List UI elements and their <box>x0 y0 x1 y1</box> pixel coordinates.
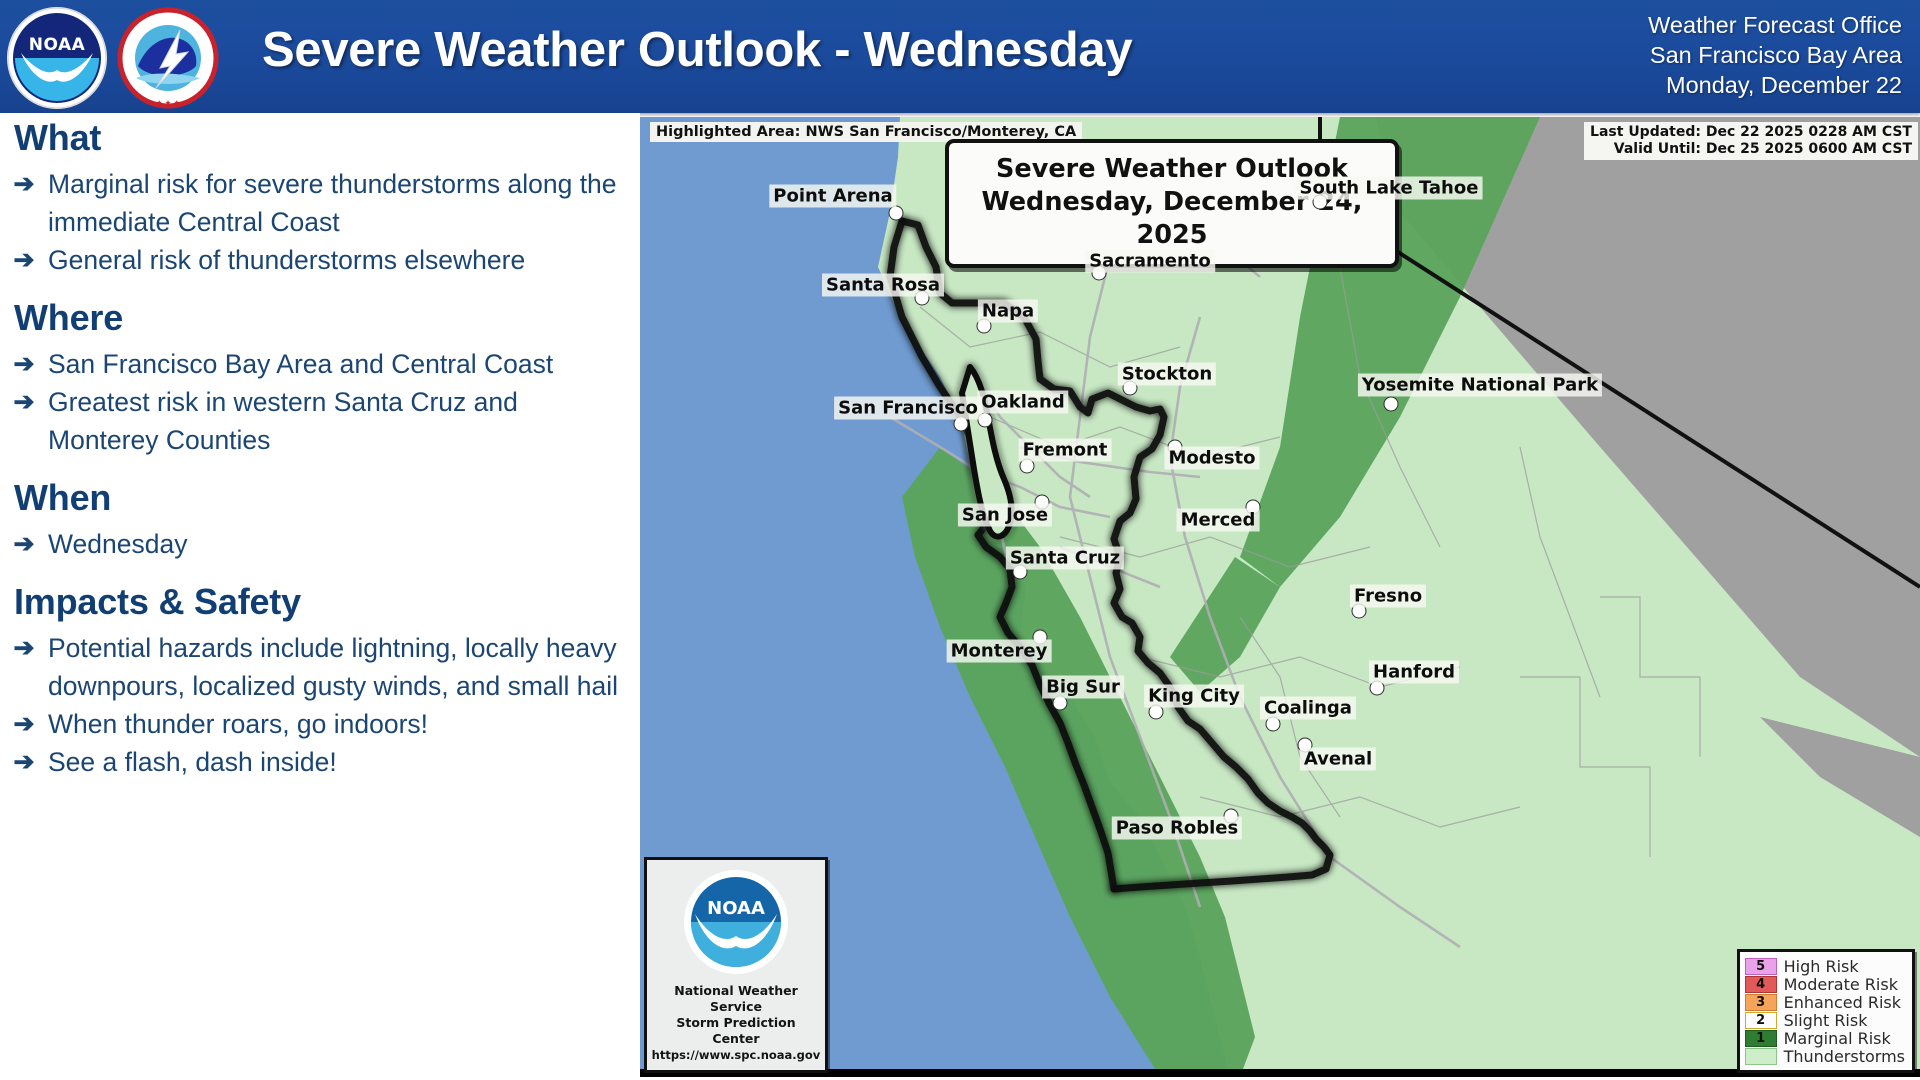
city-label: Avenal <box>1300 748 1376 771</box>
section-heading: Impacts & Safety <box>0 581 640 623</box>
city-label: South Lake Tahoe <box>1296 177 1483 200</box>
bullet-item: ➔Greatest risk in western Santa Cruz and… <box>0 383 640 459</box>
legend-label: High Risk <box>1784 957 1859 976</box>
city-label: Point Arena <box>769 185 896 208</box>
city-label: Fremont <box>1019 439 1112 462</box>
update-info-box: Last Updated: Dec 22 2025 0228 AM CST Va… <box>1584 122 1918 160</box>
spc-line2: Storm Prediction Center <box>651 1015 821 1047</box>
city-label: Stockton <box>1118 363 1216 386</box>
office-region: San Francisco Bay Area <box>1648 40 1902 70</box>
bullet-text: Wednesday <box>48 525 640 563</box>
noaa-wordmark: NOAA <box>29 35 86 55</box>
arrow-bullet-icon: ➔ <box>0 629 48 667</box>
legend-row: 4Moderate Risk <box>1745 975 1905 993</box>
bullet-item: ➔San Francisco Bay Area and Central Coas… <box>0 345 640 383</box>
city-label: King City <box>1144 685 1244 708</box>
bullet-text: Greatest risk in western Santa Cruz and … <box>48 383 640 459</box>
legend-label: Thunderstorms <box>1784 1047 1905 1066</box>
bullet-text: Potential hazards include lightning, loc… <box>48 629 640 705</box>
legend-row: 3Enhanced Risk <box>1745 993 1905 1011</box>
outlook-map[interactable]: Highlighted Area: NWS San Francisco/Mont… <box>640 117 1920 1077</box>
legend-swatch-2: 2 <box>1745 1012 1777 1029</box>
legend-swatch-thunderstorms <box>1745 1048 1777 1065</box>
bullet-list: ➔Wednesday <box>0 525 640 563</box>
arrow-bullet-icon: ➔ <box>0 345 48 383</box>
city-label: San Jose <box>958 504 1052 527</box>
city-label: Yosemite National Park <box>1358 374 1602 397</box>
valid-until-text: Valid Until: Dec 25 2025 0600 AM CST <box>1590 141 1912 158</box>
city-label: Santa Cruz <box>1006 547 1124 570</box>
spc-logo-box[interactable]: NOAA National Weather Service Storm Pred… <box>644 857 828 1073</box>
section-heading: When <box>0 477 640 519</box>
page-title: Severe Weather Outlook - Wednesday <box>262 22 1132 78</box>
bullet-item: ➔General risk of thunderstorms elsewhere <box>0 241 640 279</box>
city-label: Santa Rosa <box>822 274 944 297</box>
city-label: Coalinga <box>1260 697 1356 720</box>
page-header: NOAA ★ ★ ★ Severe Weather Outlook - Wedn… <box>0 0 1920 113</box>
city-label: Monterey <box>947 640 1052 663</box>
city-label: Hanford <box>1369 661 1459 684</box>
noaa-seal-wordmark: NOAA <box>707 898 765 919</box>
bullet-text: When thunder roars, go indoors! <box>48 705 640 743</box>
city-label: Modesto <box>1164 447 1259 470</box>
bullet-list: ➔Marginal risk for severe thunderstorms … <box>0 165 640 279</box>
spc-url[interactable]: https://www.spc.noaa.gov <box>651 1047 821 1064</box>
arrow-bullet-icon: ➔ <box>0 743 48 781</box>
legend-label: Enhanced Risk <box>1784 993 1901 1012</box>
office-info: Weather Forecast Office San Francisco Ba… <box>1648 10 1902 100</box>
section-where: Where➔San Francisco Bay Area and Central… <box>0 297 640 459</box>
legend-label: Marginal Risk <box>1784 1029 1891 1048</box>
outlook-summary-panel: What➔Marginal risk for severe thundersto… <box>0 113 640 1080</box>
section-heading: Where <box>0 297 640 339</box>
city-label: Merced <box>1177 509 1260 532</box>
bullet-text: See a flash, dash inside! <box>48 743 640 781</box>
legend-swatch-5: 5 <box>1745 958 1777 975</box>
bullet-text: Marginal risk for severe thunderstorms a… <box>48 165 640 241</box>
legend-swatch-3: 3 <box>1745 994 1777 1011</box>
city-label: Paso Robles <box>1112 817 1242 840</box>
city-label: San Francisco <box>834 397 982 420</box>
office-name: Weather Forecast Office <box>1648 10 1902 40</box>
arrow-bullet-icon: ➔ <box>0 165 48 203</box>
city-label: Napa <box>978 300 1038 323</box>
city-label: Sacramento <box>1085 250 1215 273</box>
city-dot-icon <box>889 206 904 221</box>
arrow-bullet-icon: ➔ <box>0 241 48 279</box>
legend-row: 5High Risk <box>1745 957 1905 975</box>
noaa-seal-icon: NOAA <box>661 866 811 978</box>
arrow-bullet-icon: ➔ <box>0 525 48 563</box>
legend-row: 2Slight Risk <box>1745 1011 1905 1029</box>
legend-label: Slight Risk <box>1784 1011 1868 1030</box>
bullet-list: ➔Potential hazards include lightning, lo… <box>0 629 640 781</box>
noaa-logo-icon: NOAA <box>5 6 109 110</box>
city-label: Fresno <box>1350 585 1426 608</box>
last-updated-text: Last Updated: Dec 22 2025 0228 AM CST <box>1590 124 1912 141</box>
arrow-bullet-icon: ➔ <box>0 705 48 743</box>
bullet-item: ➔Marginal risk for severe thunderstorms … <box>0 165 640 241</box>
bullet-item: ➔Wednesday <box>0 525 640 563</box>
city-label: Oakland <box>977 391 1068 414</box>
arrow-bullet-icon: ➔ <box>0 383 48 421</box>
nws-wordmark: ★ ★ ★ <box>156 99 180 107</box>
bullet-item: ➔Potential hazards include lightning, lo… <box>0 629 640 705</box>
risk-legend: 5High Risk4Moderate Risk3Enhanced Risk2S… <box>1737 949 1915 1073</box>
nws-logo-icon: ★ ★ ★ <box>116 6 220 110</box>
legend-row: 1Marginal Risk <box>1745 1029 1905 1047</box>
legend-swatch-4: 4 <box>1745 976 1777 993</box>
severe-weather-outlook-graphic: NOAA ★ ★ ★ Severe Weather Outlook - Wedn… <box>0 0 1920 1080</box>
issue-date: Monday, December 22 <box>1648 70 1902 100</box>
bullet-text: General risk of thunderstorms elsewhere <box>48 241 640 279</box>
section-what: What➔Marginal risk for severe thundersto… <box>0 117 640 279</box>
bullet-item: ➔See a flash, dash inside! <box>0 743 640 781</box>
section-when: When➔Wednesday <box>0 477 640 563</box>
bullet-list: ➔San Francisco Bay Area and Central Coas… <box>0 345 640 459</box>
legend-row: Thunderstorms <box>1745 1047 1905 1065</box>
section-impacts-safety: Impacts & Safety➔Potential hazards inclu… <box>0 581 640 781</box>
bullet-item: ➔When thunder roars, go indoors! <box>0 705 640 743</box>
city-label: Big Sur <box>1042 676 1124 699</box>
bullet-text: San Francisco Bay Area and Central Coast <box>48 345 640 383</box>
legend-label: Moderate Risk <box>1784 975 1898 994</box>
spc-line1: National Weather Service <box>651 983 821 1015</box>
section-heading: What <box>0 117 640 159</box>
legend-swatch-1: 1 <box>1745 1030 1777 1047</box>
city-dot-icon <box>1384 397 1399 412</box>
